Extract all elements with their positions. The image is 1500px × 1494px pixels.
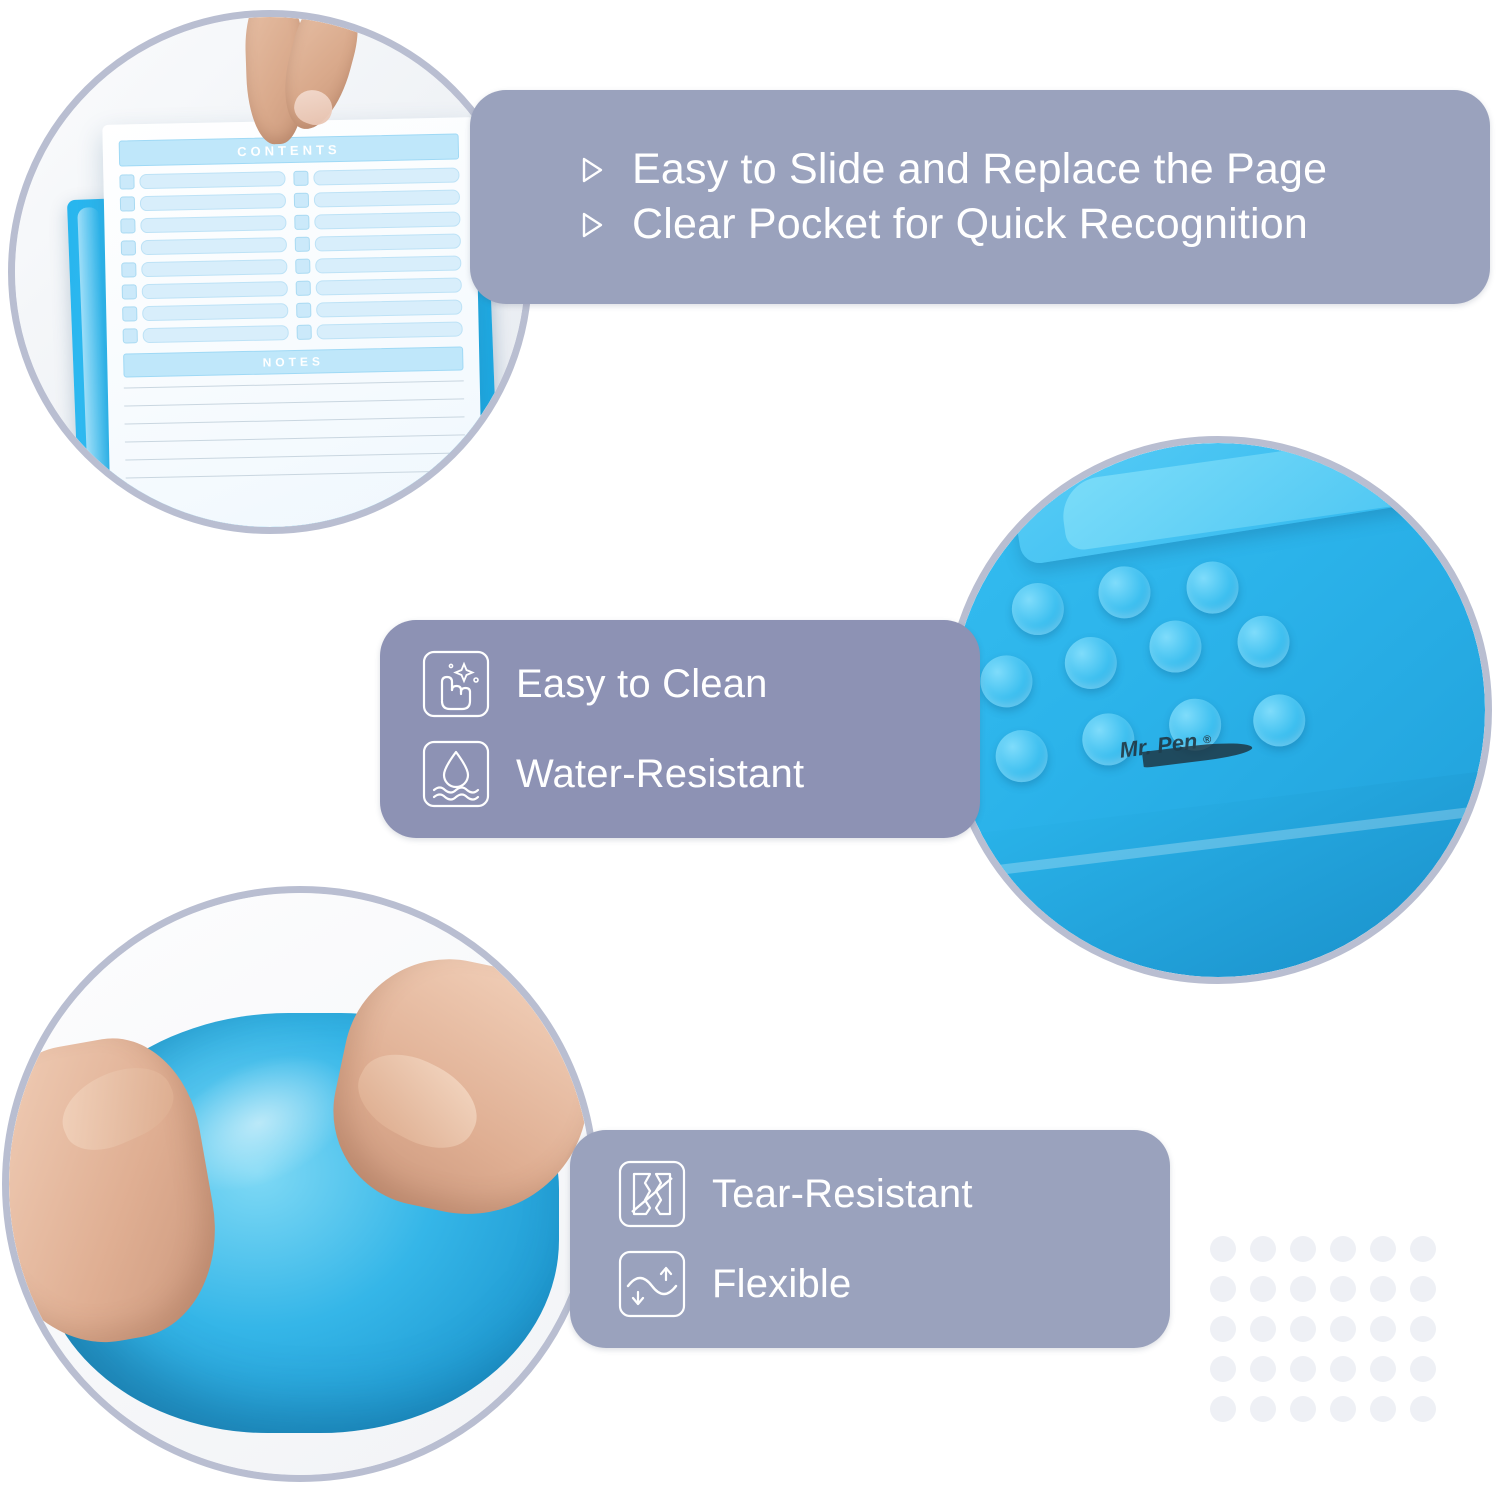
callout-row: Tear-Resistant — [614, 1156, 1170, 1232]
checkbox — [295, 237, 310, 252]
wiping-hand-sparkle-icon — [418, 646, 494, 722]
checkbox — [121, 240, 136, 255]
hand-holding-sheet — [219, 17, 386, 174]
product-feature-collage: CONTENTS — [0, 0, 1500, 1494]
insert-sheet: CONTENTS — [102, 117, 483, 527]
decorative-dot-matrix — [1210, 1236, 1436, 1422]
checkbox — [293, 171, 308, 186]
checkbox — [294, 193, 309, 208]
callout-row: Water-Resistant — [418, 736, 980, 812]
write-line — [317, 321, 463, 339]
play-triangle-icon — [570, 150, 610, 190]
photo-contents-sheet: CONTENTS — [8, 10, 532, 534]
sheet-checklist — [119, 167, 462, 343]
sheet-notes-header: NOTES — [123, 346, 463, 377]
write-line — [140, 215, 286, 233]
write-line — [316, 277, 462, 295]
callout-text: Water-Resistant — [516, 752, 804, 797]
write-line — [316, 299, 462, 317]
checkbox — [122, 284, 137, 299]
photo-flexible-stretch — [2, 886, 598, 1482]
checkbox — [296, 281, 311, 296]
flexible-wave-arrows-icon — [614, 1246, 690, 1322]
checkbox — [120, 196, 135, 211]
play-triangle-icon — [570, 205, 610, 245]
checkbox — [294, 215, 309, 230]
write-line — [141, 237, 287, 255]
callout-text: Tear-Resistant — [712, 1172, 973, 1217]
sheet-note-lines — [124, 380, 466, 478]
write-line — [140, 193, 286, 211]
write-line — [143, 325, 289, 343]
checkbox — [120, 218, 135, 233]
write-line — [142, 281, 288, 299]
checkbox — [296, 303, 311, 318]
water-droplet-repel-icon — [418, 736, 494, 812]
checkbox — [122, 306, 137, 321]
callout-text: Flexible — [712, 1262, 851, 1307]
write-line — [142, 303, 288, 321]
write-line — [315, 233, 461, 251]
checkbox — [123, 328, 138, 343]
write-line — [139, 171, 285, 189]
callout-text: Clear Pocket for Quick Recognition — [632, 200, 1308, 249]
callout-row: Easy to Slide and Replace the Page — [570, 145, 1490, 194]
checkbox — [119, 174, 134, 189]
write-line — [314, 189, 460, 207]
write-line — [314, 211, 460, 229]
callout-row: Clear Pocket for Quick Recognition — [570, 200, 1490, 249]
callout-features-top: Easy to Slide and Replace the Page Clear… — [470, 90, 1490, 304]
checkbox — [121, 262, 136, 277]
write-line — [141, 259, 287, 277]
tear-resistant-icon — [614, 1156, 690, 1232]
callout-text: Easy to Clean — [516, 662, 768, 707]
callout-features-clean: Easy to Clean Water-Resistant — [380, 620, 980, 838]
checkbox — [297, 325, 312, 340]
photo-embossed-dots: Mr. Pen ® — [944, 436, 1492, 984]
write-line — [315, 255, 461, 273]
callout-row: Flexible — [614, 1246, 1170, 1322]
callout-row: Easy to Clean — [418, 646, 980, 722]
callout-features-durability: Tear-Resistant Flexible — [570, 1130, 1170, 1348]
checkbox — [295, 259, 310, 274]
callout-text: Easy to Slide and Replace the Page — [632, 145, 1327, 194]
